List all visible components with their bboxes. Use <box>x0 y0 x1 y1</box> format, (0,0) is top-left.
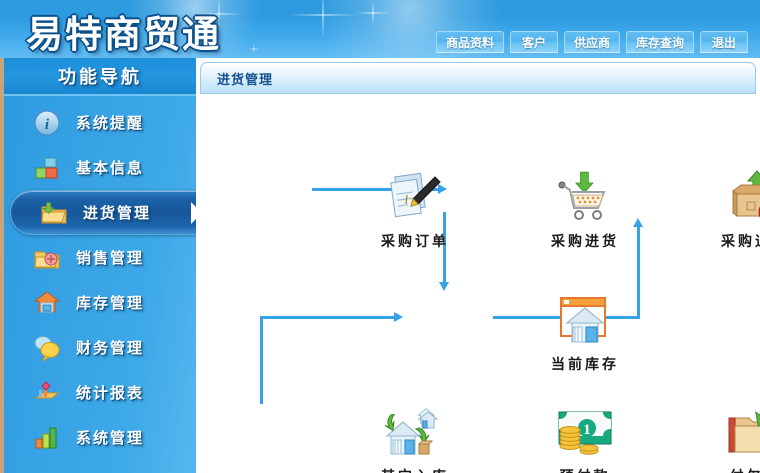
sidebar-item-label: 基本信息 <box>76 157 144 178</box>
sidebar-item-label: 财务管理 <box>76 337 144 358</box>
box-up-arrow-x-icon <box>723 169 760 227</box>
sidebar-item-8[interactable]: 系统管理 <box>4 415 196 460</box>
sidebar-item-label: 统计报表 <box>76 382 144 403</box>
flow-node-purchase-receipt[interactable]: 采购进货 <box>525 169 645 251</box>
flow-node-label: 采购订单 <box>355 231 475 251</box>
flow-node-label: 采购进货 <box>525 231 645 251</box>
flow-node-label: 采购退货 <box>695 231 760 251</box>
sidebar-item-5[interactable]: 库存管理 <box>4 280 196 325</box>
sales-folder-icon <box>32 243 62 273</box>
sparkle-icon <box>288 0 358 40</box>
app-banner: 易特商贸通 商品资料客户供应商库存查询退出 <box>0 0 760 58</box>
window-house-icon <box>553 292 617 350</box>
nav-exit[interactable]: 退出 <box>700 31 748 53</box>
cart-down-arrow-icon <box>553 169 617 227</box>
flow-node-label: 付欠款 <box>695 466 760 473</box>
sidebar-item-label: 销售管理 <box>76 247 144 268</box>
sidebar-item-6[interactable]: 财务管理 <box>4 325 196 370</box>
warehouse-house-icon <box>32 288 62 318</box>
report-chart-icon <box>32 378 62 408</box>
sidebar-item-label: 库存管理 <box>76 292 144 313</box>
flow-node-label: 当前库存 <box>525 354 645 374</box>
banknote-coins-icon: 1 <box>553 404 617 462</box>
nav-supplier[interactable]: 供应商 <box>564 31 620 53</box>
purchase-folder-icon <box>39 198 69 228</box>
info-circle-icon: i <box>32 108 62 138</box>
flow-node-pay-debt[interactable]: 付欠款 <box>695 404 760 473</box>
content-panel: 进货管理 采购订单采购进货采购退货当前库存其它入库1预付款付欠款 <box>196 58 760 473</box>
flow-canvas: 采购订单采购进货采购退货当前库存其它入库1预付款付欠款 <box>200 94 756 469</box>
sparkle-icon <box>356 0 390 26</box>
flow-node-other-inbound[interactable]: 其它入库 <box>355 404 475 473</box>
top-navigation: 商品资料客户供应商库存查询退出 <box>436 31 748 53</box>
edge-inbound-to-stock-arrowhead <box>394 312 403 322</box>
blocks-icon <box>32 153 62 183</box>
flow-node-label: 其它入库 <box>355 466 475 473</box>
flow-node-prepayment[interactable]: 1预付款 <box>525 404 645 473</box>
sidebar-item-7[interactable]: 统计报表 <box>4 370 196 415</box>
sidebar-item-3[interactable]: 进货管理 <box>10 190 196 235</box>
app-logo: 易特商贸通 <box>26 4 221 58</box>
sparkle-icon <box>248 44 260 54</box>
nav-stock-query[interactable]: 库存查询 <box>626 31 694 53</box>
edge-inbound-to-stock-h <box>260 316 397 319</box>
panel-tab-header[interactable]: 进货管理 <box>200 62 756 94</box>
nav-goods-info[interactable]: 商品资料 <box>436 31 504 53</box>
edge-inbound-to-stock-v <box>260 316 263 404</box>
sidebar-item-4[interactable]: 销售管理 <box>4 235 196 280</box>
house-exchange-icon <box>383 404 447 462</box>
folder-coins-icon <box>723 404 760 462</box>
finance-balloon-icon <box>32 333 62 363</box>
panel-tab-label: 进货管理 <box>217 69 273 88</box>
edge-receipt-to-stock-arrowhead <box>439 282 449 291</box>
flow-node-label: 预付款 <box>525 466 645 473</box>
sidebar: 功能导航 i系统提醒基本信息进货管理销售管理库存管理财务管理统计报表系统管理 <box>0 58 196 473</box>
sidebar-title: 功能导航 <box>4 58 196 96</box>
flow-node-purchase-return[interactable]: 采购退货 <box>695 169 760 251</box>
sidebar-item-1[interactable]: i系统提醒 <box>4 100 196 145</box>
flow-node-current-stock[interactable]: 当前库存 <box>525 292 645 374</box>
bar-chart-icon <box>32 423 62 453</box>
sidebar-item-label: 进货管理 <box>83 202 151 223</box>
sidebar-item-label: 系统管理 <box>76 427 144 448</box>
sidebar-menu: i系统提醒基本信息进货管理销售管理库存管理财务管理统计报表系统管理 <box>4 100 196 460</box>
document-pen-icon <box>383 169 447 227</box>
sidebar-item-label: 系统提醒 <box>76 112 144 133</box>
flow-node-purchase-order[interactable]: 采购订单 <box>355 169 475 251</box>
sidebar-item-2[interactable]: 基本信息 <box>4 145 196 190</box>
sidebar-title-label: 功能导航 <box>58 63 142 89</box>
svg-text:1: 1 <box>583 422 591 438</box>
nav-customer[interactable]: 客户 <box>510 31 558 53</box>
